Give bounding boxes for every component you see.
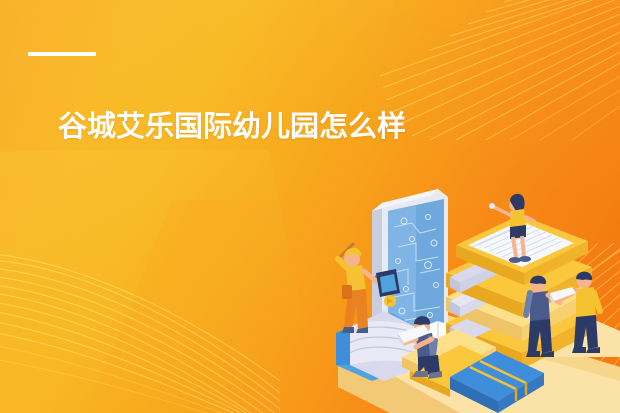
background-line-fan-bottom-left [0,253,280,413]
background-facet-3 [297,0,620,200]
promo-banner: 谷城艾乐国际幼儿园怎么样 [0,0,620,413]
isometric-books-illustration [320,181,620,413]
page-title: 谷城艾乐国际幼儿园怎么样 [58,108,406,144]
background-facet-2 [0,150,332,413]
headline-accent-rule [28,52,96,56]
